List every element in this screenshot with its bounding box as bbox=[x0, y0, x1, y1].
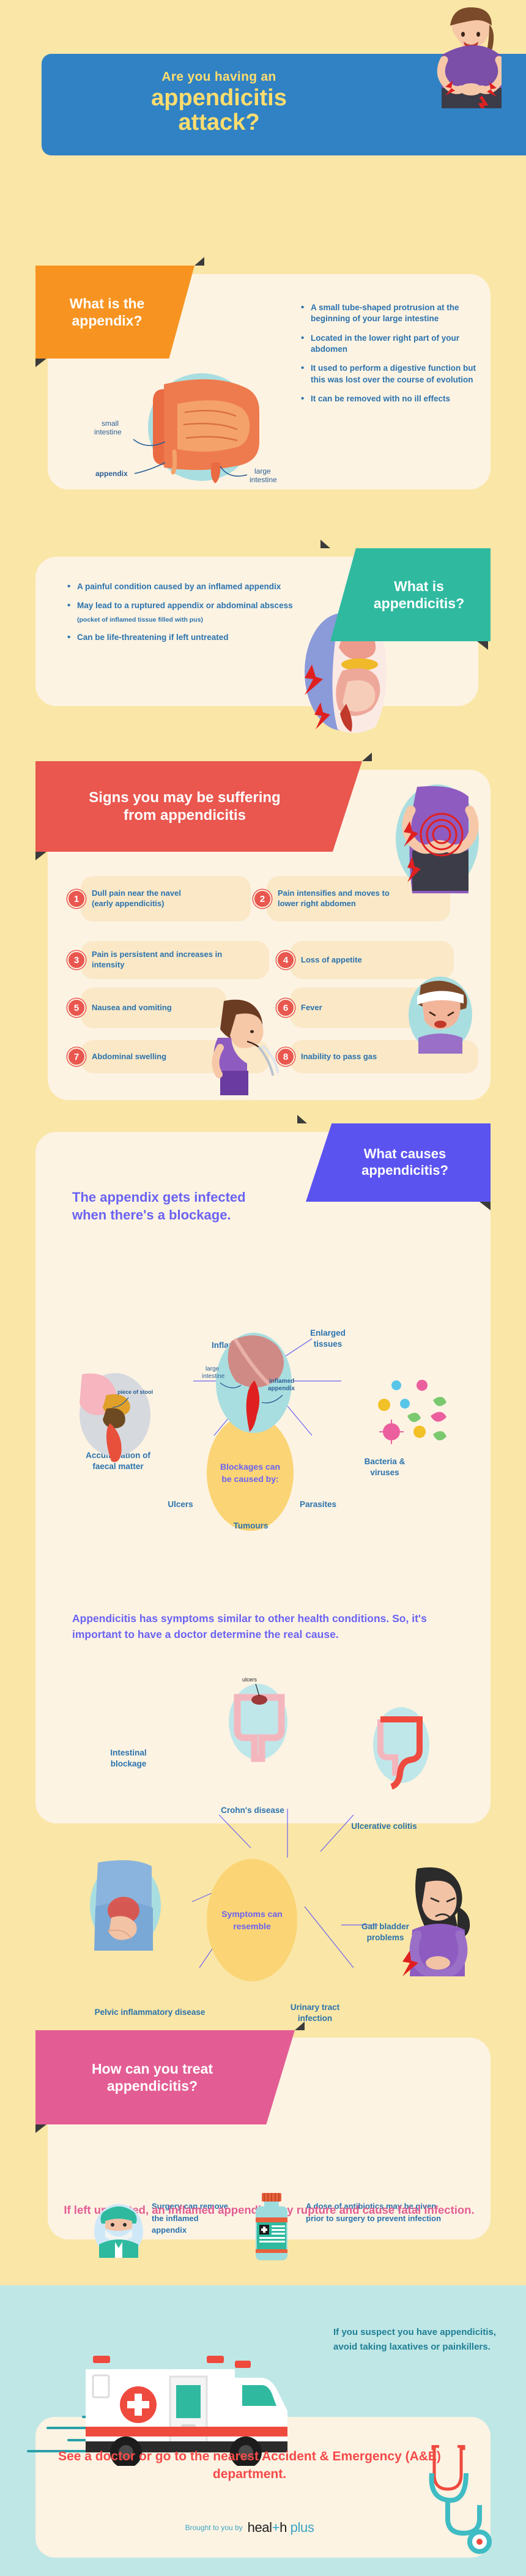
pelvic-pain-illustration bbox=[80, 1858, 171, 1956]
symptoms-hub: Symptoms can resemble bbox=[207, 1859, 297, 1981]
cause-node-tumours: Tumours bbox=[220, 1521, 281, 1532]
sign-item-4: 4 Loss of appetite bbox=[276, 941, 454, 979]
list-item: Can be life-threatening if left untreate… bbox=[67, 632, 294, 643]
faecal-matter-illustration: piece of stool bbox=[72, 1371, 158, 1462]
appendix-section-title: What is the appendix? bbox=[35, 266, 194, 359]
sign-label: Pain is persistent and increases in inte… bbox=[92, 950, 226, 970]
svg-text:appendix: appendix bbox=[95, 469, 128, 478]
list-item: It used to perform a digestive function … bbox=[301, 363, 476, 385]
abscess-note: (pocket of inflamed tissue filled with p… bbox=[77, 616, 294, 624]
ribbon-fold-top bbox=[297, 1115, 307, 1123]
emergency-advice-text: If you suspect you have appendicitis, av… bbox=[333, 2325, 505, 2355]
resemble-node-ulcerative-colitis: Ulcerative colitis bbox=[347, 1821, 421, 1832]
causes-lead-text: The appendix gets infected when there's … bbox=[72, 1188, 274, 1224]
hero-title-line-a: appendicitis bbox=[151, 85, 287, 111]
sign-label: Pain intensifies and moves to lower righ… bbox=[278, 888, 399, 909]
svg-text:piece of stool: piece of stool bbox=[117, 1389, 153, 1395]
sign-number: 5 bbox=[67, 999, 86, 1017]
appendicitis-title-line-b: appendicitis? bbox=[374, 595, 464, 611]
causes-title-line-a: What causes bbox=[364, 1146, 446, 1161]
sign-label: Nausea and vomiting bbox=[92, 1003, 177, 1013]
ribbon-fold-top bbox=[362, 753, 372, 761]
crohns-disease-illustration: ulcers bbox=[221, 1673, 295, 1765]
resemble-node-crohns: Crohn's disease bbox=[208, 1805, 297, 1816]
signs-section-title: Signs you may be suffering from appendic… bbox=[35, 761, 362, 852]
signs-title-line-a: Signs you may be suffering bbox=[89, 789, 280, 806]
list-item: May lead to a ruptured appendix or abdom… bbox=[67, 600, 294, 611]
causes-note-text: Appendicitis has symptoms similar to oth… bbox=[72, 1610, 448, 1643]
sign-label: Dull pain near the navel (early appendic… bbox=[92, 888, 196, 909]
ribbon-fold-top bbox=[194, 257, 204, 266]
bacteria-viruses-illustration bbox=[367, 1375, 459, 1455]
svg-text:inflamed: inflamed bbox=[269, 1378, 294, 1385]
brought-to-you-by: Brought to you by heal+h plus bbox=[35, 2520, 464, 2536]
ulcerative-colitis-illustration bbox=[365, 1699, 438, 1790]
treatment-title-line-a: How can you treat bbox=[92, 2061, 213, 2077]
logo-text-heal: heal bbox=[248, 2520, 272, 2535]
svg-text:ulcers: ulcers bbox=[242, 1677, 257, 1683]
hero-title-line-b: attack? bbox=[178, 110, 259, 135]
blockage-hub-label: Blockages can be caused by: bbox=[207, 1461, 294, 1486]
ribbon-fold-bottom bbox=[35, 852, 46, 860]
appendicitis-title-line-a: What is bbox=[394, 578, 444, 594]
sign-number: 3 bbox=[67, 951, 86, 969]
logo-cross-icon: + bbox=[272, 2520, 280, 2535]
infographic-page: Are you having an appendicitis attack? W… bbox=[0, 0, 526, 2576]
svg-text:appendix: appendix bbox=[268, 1385, 295, 1392]
svg-text:intestine: intestine bbox=[202, 1373, 225, 1380]
signs-title-line-b: from appendicitis bbox=[124, 807, 246, 824]
sign-label: Loss of appetite bbox=[301, 955, 417, 966]
vomiting-person-illustration bbox=[202, 997, 287, 1095]
resemble-node-pelvic-inflammatory: Pelvic inflammatory disease bbox=[87, 2007, 213, 2018]
list-item-text: May lead to a ruptured appendix or abdom… bbox=[77, 601, 293, 610]
list-item: It can be removed with no ill effects bbox=[301, 393, 476, 404]
cause-node-parasites: Parasites bbox=[287, 1499, 349, 1510]
causes-section-title: What causes appendicitis? bbox=[306, 1123, 491, 1202]
logo-text-plus: plus bbox=[291, 2520, 314, 2535]
causes-title-line-b: appendicitis? bbox=[361, 1163, 448, 1178]
girl-holding-abdomen-illustration bbox=[361, 7, 502, 108]
health-plus-logo: heal+h plus bbox=[248, 2520, 314, 2536]
footer-cta: See a doctor or go to the nearest Accide… bbox=[35, 2448, 464, 2484]
symptoms-hub-label: Symptoms can resemble bbox=[207, 1908, 297, 1933]
ribbon-fold-bottom bbox=[35, 359, 46, 367]
cause-node-ulcers: Ulcers bbox=[153, 1499, 208, 1510]
brought-label: Brought to you by bbox=[185, 2523, 243, 2532]
logo-text-h: h bbox=[280, 2520, 287, 2535]
sign-number: 7 bbox=[67, 1048, 86, 1066]
sign-label: Fever bbox=[301, 1003, 405, 1013]
ribbon-fold-top bbox=[320, 540, 330, 548]
urinary-tract-infection-illustration bbox=[389, 1866, 487, 1976]
antibiotics-bottle-icon bbox=[250, 2193, 294, 2261]
surgeon-icon bbox=[91, 2197, 147, 2258]
appendix-title-line-b: appendix? bbox=[72, 313, 142, 329]
list-item: A painful condition caused by an inflame… bbox=[67, 581, 294, 592]
sign-number: 4 bbox=[276, 951, 295, 969]
fever-person-illustration bbox=[404, 974, 477, 1054]
resemble-node-intestinal-blockage: Intestinal blockage bbox=[92, 1748, 165, 1769]
cause-node-bacteria-viruses: Bacteria & viruses bbox=[351, 1456, 418, 1478]
svg-text:large: large bbox=[206, 1366, 220, 1372]
sign-number: 2 bbox=[253, 890, 272, 908]
treatment-section-title: How can you treat appendicitis? bbox=[35, 2030, 295, 2124]
resemble-node-uti: Urinary tract infection bbox=[274, 2002, 356, 2023]
hero-title: appendicitis attack? bbox=[42, 86, 396, 135]
appendix-title-line-a: What is the bbox=[70, 296, 145, 311]
abdominal-pain-illustration bbox=[385, 783, 489, 893]
appendicitis-bullet-list: A painful condition caused by an inflame… bbox=[67, 581, 294, 651]
appendicitis-section-title: What is appendicitis? bbox=[330, 548, 491, 641]
sign-item-1: 1 Dull pain near the navel (early append… bbox=[67, 876, 251, 921]
hero-eyebrow: Are you having an bbox=[42, 70, 396, 84]
inflamed-appendix-illustration: large intestine inflamed appendix bbox=[202, 1327, 306, 1449]
svg-text:small: small bbox=[102, 419, 119, 428]
sign-item-3: 3 Pain is persistent and increases in in… bbox=[67, 941, 269, 979]
sign-number: 1 bbox=[67, 890, 86, 908]
appendix-bullet-list: A small tube-shaped protrusion at the be… bbox=[301, 302, 476, 413]
ribbon-fold-bottom bbox=[480, 1202, 491, 1210]
stethoscope-icon bbox=[422, 2445, 495, 2561]
intestine-illustration: small intestine appendix large intestine bbox=[92, 366, 281, 488]
ribbon-fold-bottom bbox=[35, 2124, 46, 2133]
list-item-note: (pocket of inflamed tissue filled with p… bbox=[67, 616, 294, 624]
svg-text:intestine: intestine bbox=[250, 475, 277, 484]
ribbon-fold-bottom bbox=[477, 641, 488, 650]
svg-text:intestine: intestine bbox=[94, 428, 122, 436]
svg-text:large: large bbox=[254, 467, 271, 475]
treatment-title-line-b: appendicitis? bbox=[107, 2078, 198, 2094]
list-item: A small tube-shaped protrusion at the be… bbox=[301, 302, 476, 325]
list-item: Located in the lower right part of your … bbox=[301, 333, 476, 356]
